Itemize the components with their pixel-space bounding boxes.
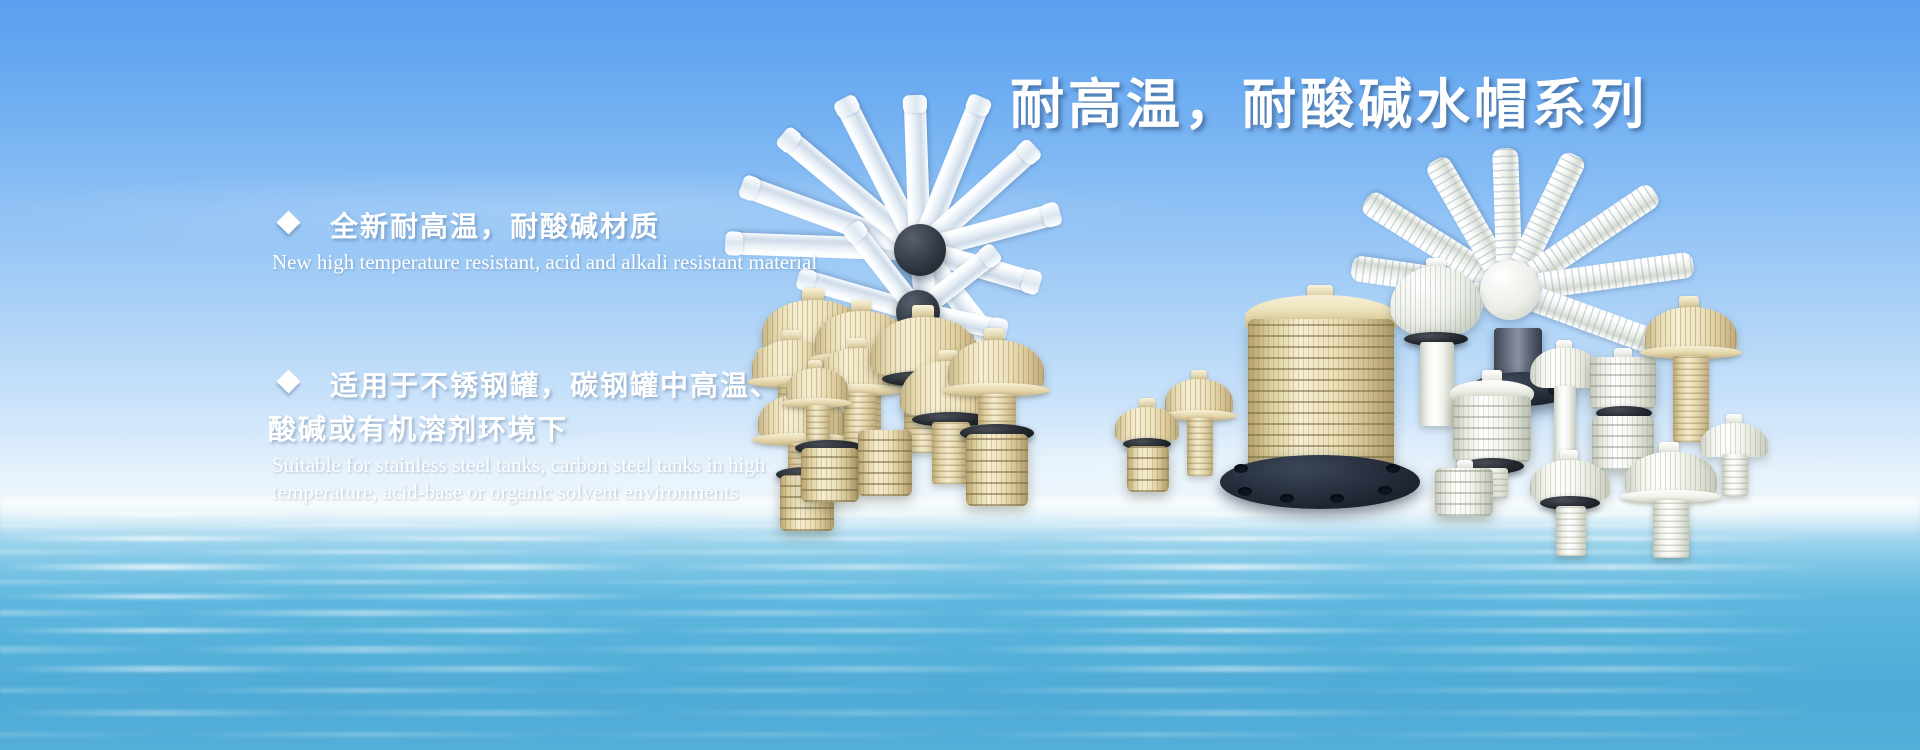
feature-list: 全新耐高温，耐酸碱材质 New high temperature resista… xyxy=(280,205,1020,594)
page-title: 耐高温，耐酸碱水帽系列 xyxy=(1010,60,1648,139)
feature-item-2: 适用于不锈钢罐，碳钢罐中高温、 酸碱或有机溶剂环境下 Suitable for … xyxy=(280,364,1020,506)
feature-item-1: 全新耐高温，耐酸碱材质 New high temperature resista… xyxy=(280,205,1020,276)
feature-2-title-cn-line2: 酸碱或有机溶剂环境下 xyxy=(268,408,1020,452)
promo-banner: 耐高温，耐酸碱水帽系列 全新耐高温，耐酸碱材质 New high tempera… xyxy=(0,0,1920,750)
feature-1-title-en: New high temperature resistant, acid and… xyxy=(272,249,1020,276)
feature-2-title-cn-line1: 适用于不锈钢罐，碳钢罐中高温、 xyxy=(330,364,1020,408)
feature-1-title-cn: 全新耐高温，耐酸碱材质 xyxy=(330,205,1020,249)
diamond-bullet-icon xyxy=(276,210,300,234)
feature-2-title-en-line1: Suitable for stainless steel tanks, carb… xyxy=(272,452,1020,479)
corrugated-assembly-hub xyxy=(1480,260,1540,320)
diamond-bullet-icon xyxy=(276,369,300,393)
feature-2-title-en-line2: temperature, acid-base or organic solven… xyxy=(272,479,1020,506)
corrugated-radial-assembly xyxy=(1510,290,1511,291)
large-filter-flange xyxy=(1220,455,1420,509)
